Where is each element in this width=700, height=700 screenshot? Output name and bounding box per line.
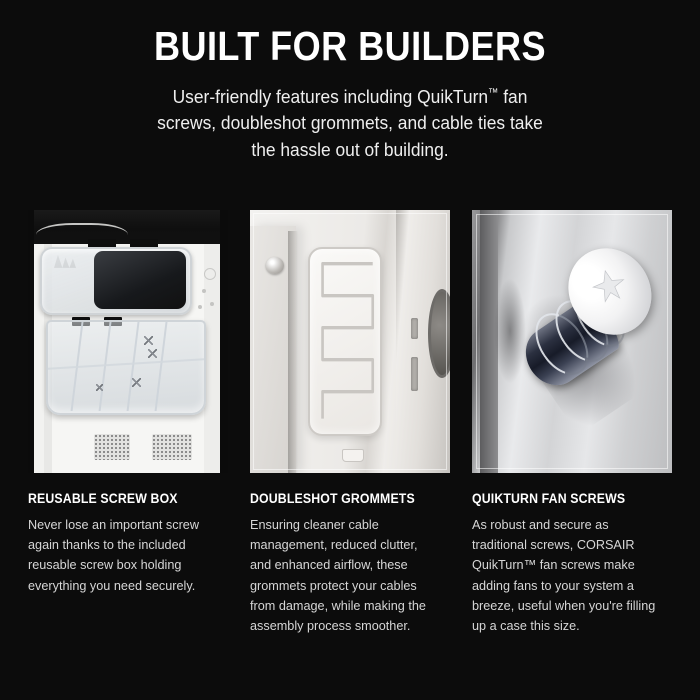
- screw-icon: [96, 384, 103, 391]
- screw-icon: [144, 336, 153, 345]
- page-subtitle: User-friendly features including QuikTur…: [21, 84, 679, 163]
- feature-card-reusable-screw-box: REUSABLE SCREW BOX Never lose an importa…: [28, 210, 228, 636]
- subtitle-line-3: the hassle out of building.: [21, 137, 679, 163]
- trademark-symbol: ™: [488, 87, 498, 99]
- screw-box-photo: [28, 210, 228, 473]
- feature-body: As robust and secure as traditional scre…: [472, 515, 664, 636]
- feature-card-quikturn-fan-screws: QUIKTURN FAN SCREWS As robust and secure…: [472, 210, 672, 636]
- screw-icon: [148, 349, 157, 358]
- feature-title: REUSABLE SCREW BOX: [28, 491, 212, 506]
- subtitle-line-1: User-friendly features including QuikTur…: [21, 84, 679, 110]
- feature-card-doubleshot-grommets: DOUBLESHOT GROMMETS Ensuring cleaner cab…: [250, 210, 450, 636]
- screw-icon: [132, 378, 141, 387]
- subtitle-line-2: screws, doubleshot grommets, and cable t…: [21, 110, 679, 136]
- header-section: BUILT FOR BUILDERS User-friendly feature…: [0, 0, 700, 163]
- subtitle-line-1-b: fan: [498, 86, 527, 107]
- page-title: BUILT FOR BUILDERS: [42, 26, 658, 67]
- quikturn-screw-photo: [472, 210, 672, 473]
- feature-body: Ensuring cleaner cable management, reduc…: [250, 515, 442, 636]
- marketing-feature-panel: BUILT FOR BUILDERS User-friendly feature…: [0, 0, 700, 700]
- feature-body: Never lose an important screw again than…: [28, 515, 220, 596]
- feature-columns: REUSABLE SCREW BOX Never lose an importa…: [28, 210, 672, 636]
- feature-title: QUIKTURN FAN SCREWS: [472, 491, 656, 506]
- feature-title: DOUBLESHOT GROMMETS: [250, 491, 434, 506]
- grommet-photo: [250, 210, 450, 473]
- subtitle-line-1-a: User-friendly features including QuikTur…: [173, 86, 488, 107]
